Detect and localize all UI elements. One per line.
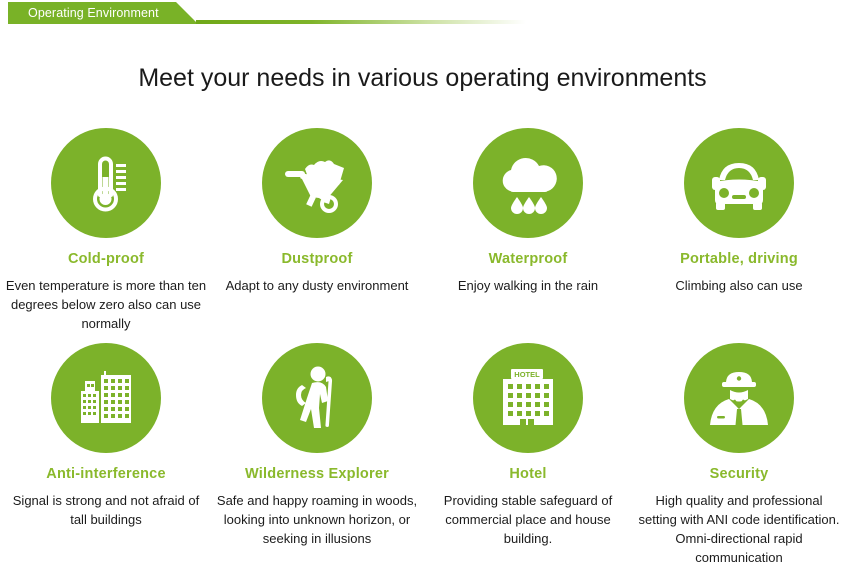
feature-description: Adapt to any dusty environment bbox=[215, 276, 420, 295]
feature-description: Even temperature is more than ten degree… bbox=[4, 276, 209, 333]
feature-card-portable-driving: Portable, driving Climbing also can use bbox=[634, 128, 845, 343]
icon-badge: HOTEL bbox=[473, 343, 583, 453]
feature-card-security: Security High quality and professional s… bbox=[634, 343, 845, 567]
thermometer-icon bbox=[70, 147, 142, 219]
rain-cloud-icon bbox=[490, 149, 566, 217]
feature-description: Providing stable safeguard of commercial… bbox=[426, 491, 631, 548]
page-title: Meet your needs in various operating env… bbox=[0, 64, 845, 93]
hotel-building-icon: HOTEL bbox=[491, 363, 565, 433]
hotel-sign-text: HOTEL bbox=[514, 370, 540, 379]
icon-badge bbox=[262, 343, 372, 453]
feature-label: Waterproof bbox=[489, 251, 568, 267]
icon-badge bbox=[473, 128, 583, 238]
feature-label: Hotel bbox=[509, 466, 546, 482]
feature-label: Portable, driving bbox=[680, 251, 798, 267]
car-icon bbox=[701, 150, 777, 216]
feature-card-dustproof: Dustproof Adapt to any dusty environment bbox=[212, 128, 423, 343]
icon-badge bbox=[684, 343, 794, 453]
feature-label: Wilderness Explorer bbox=[245, 466, 389, 482]
feature-label: Anti-interference bbox=[46, 466, 165, 482]
security-officer-icon bbox=[702, 363, 776, 433]
feature-label: Dustproof bbox=[281, 251, 352, 267]
icon-badge bbox=[51, 343, 161, 453]
feature-card-hotel: HOTEL Hotel Providing stable safeguard o… bbox=[423, 343, 634, 567]
icon-badge bbox=[262, 128, 372, 238]
feature-description: Safe and happy roaming in woods, looking… bbox=[215, 491, 420, 548]
wheelbarrow-icon bbox=[279, 148, 355, 218]
feature-card-cold-proof: Cold-proof Even temperature is more than… bbox=[1, 128, 212, 343]
icon-badge bbox=[51, 128, 161, 238]
feature-card-waterproof: Waterproof Enjoy walking in the rain bbox=[423, 128, 634, 343]
feature-label: Cold-proof bbox=[68, 251, 144, 267]
banner-title: Operating Environment bbox=[28, 2, 159, 24]
feature-description: Enjoy walking in the rain bbox=[426, 276, 631, 295]
banner-underline-rule bbox=[196, 20, 526, 24]
page-header-banner: Operating Environment bbox=[0, 0, 845, 30]
feature-description: Climbing also can use bbox=[637, 276, 842, 295]
feature-description: Signal is strong and not afraid of tall … bbox=[4, 491, 209, 529]
feature-card-wilderness-explorer: Wilderness Explorer Safe and happy roami… bbox=[212, 343, 423, 567]
icon-badge bbox=[684, 128, 794, 238]
feature-description: High quality and professional setting wi… bbox=[637, 491, 842, 567]
feature-card-anti-interference: Anti-interference Signal is strong and n… bbox=[1, 343, 212, 567]
feature-label: Security bbox=[710, 466, 769, 482]
buildings-icon bbox=[71, 363, 141, 433]
hiker-icon bbox=[282, 361, 352, 435]
feature-grid: Cold-proof Even temperature is more than… bbox=[0, 128, 845, 567]
